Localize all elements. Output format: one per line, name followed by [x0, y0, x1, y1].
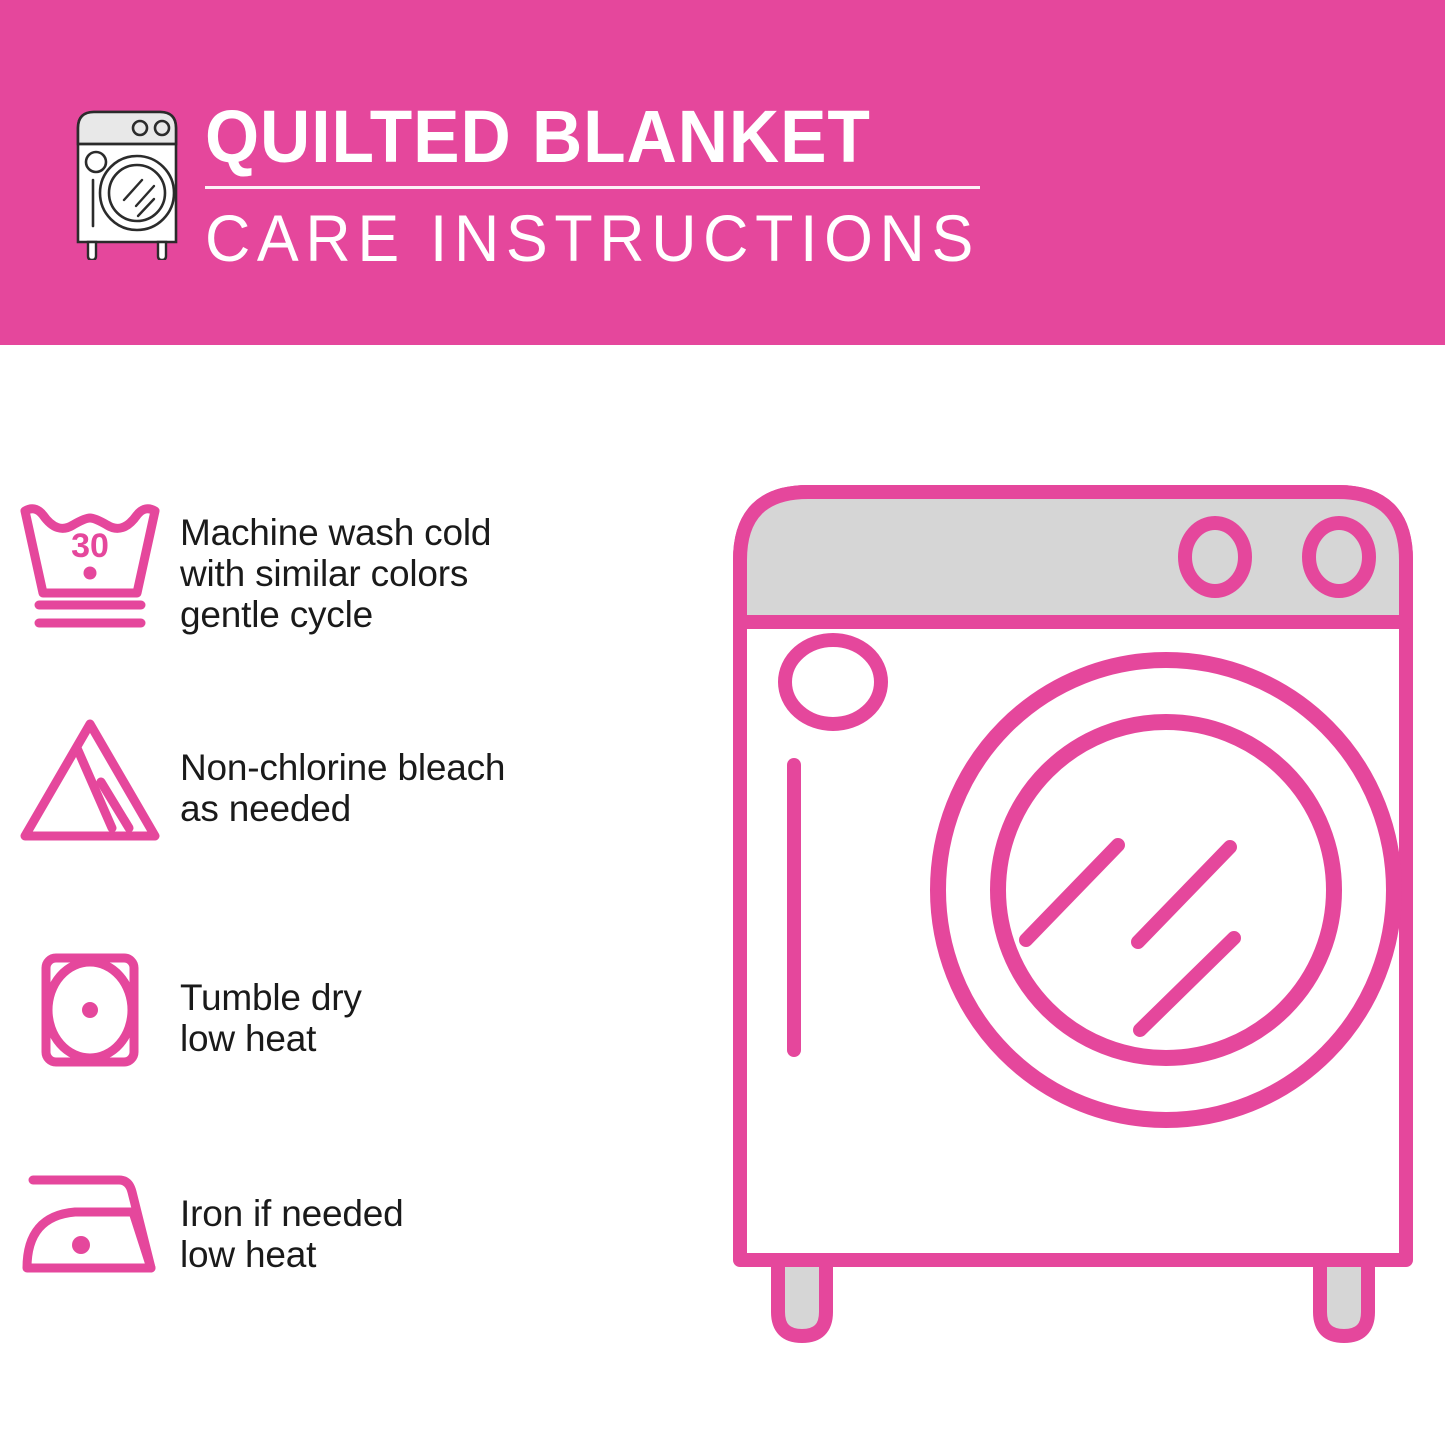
care-text-line: low heat — [180, 1234, 403, 1275]
washing-machine-logo-icon — [62, 100, 192, 260]
care-row-bleach: Non-chlorine bleach as needed — [0, 705, 700, 855]
care-text-machine-wash: Machine wash cold with similar colors ge… — [180, 490, 491, 635]
knob-right-icon — [1309, 523, 1369, 591]
care-text-line: Tumble dry — [180, 977, 362, 1018]
bleach-triangle-icon — [0, 705, 180, 855]
washing-machine-illustration — [718, 470, 1428, 1370]
knob-left-icon — [1185, 523, 1245, 591]
leg-right — [1320, 1260, 1368, 1336]
care-row-iron: Iron if needed low heat — [0, 1145, 700, 1295]
care-row-tumble-dry: Tumble dry low heat — [0, 935, 700, 1085]
tumble-dry-low-icon — [0, 935, 180, 1085]
header-divider — [205, 186, 980, 189]
care-row-machine-wash: 30 Machine wash cold with similar colors… — [0, 490, 700, 640]
wash-temperature-label: 30 — [71, 527, 109, 565]
care-text-tumble-dry: Tumble dry low heat — [180, 935, 362, 1059]
wash-tub-30-icon: 30 — [0, 490, 180, 640]
iron-low-heat-icon — [0, 1145, 180, 1295]
leg-left — [778, 1260, 826, 1336]
care-text-line: with similar colors — [180, 553, 491, 594]
indicator-circle-icon — [785, 640, 881, 724]
care-text-iron: Iron if needed low heat — [180, 1145, 403, 1275]
care-text-line: as needed — [180, 788, 505, 829]
care-text-line: Iron if needed — [180, 1193, 403, 1234]
care-text-line: Non-chlorine bleach — [180, 747, 505, 788]
page-subtitle: CARE INSTRUCTIONS — [205, 203, 956, 273]
header-banner: QUILTED BLANKET CARE INSTRUCTIONS — [0, 0, 1445, 345]
care-text-line: low heat — [180, 1018, 362, 1059]
care-instructions-page: QUILTED BLANKET CARE INSTRUCTIONS 30 — [0, 0, 1445, 1445]
page-title: QUILTED BLANKET — [205, 98, 948, 176]
care-text-line: gentle cycle — [180, 594, 491, 635]
header-text-block: QUILTED BLANKET CARE INSTRUCTIONS — [205, 98, 995, 273]
care-text-line: Machine wash cold — [180, 512, 491, 553]
care-text-bleach: Non-chlorine bleach as needed — [180, 705, 505, 829]
